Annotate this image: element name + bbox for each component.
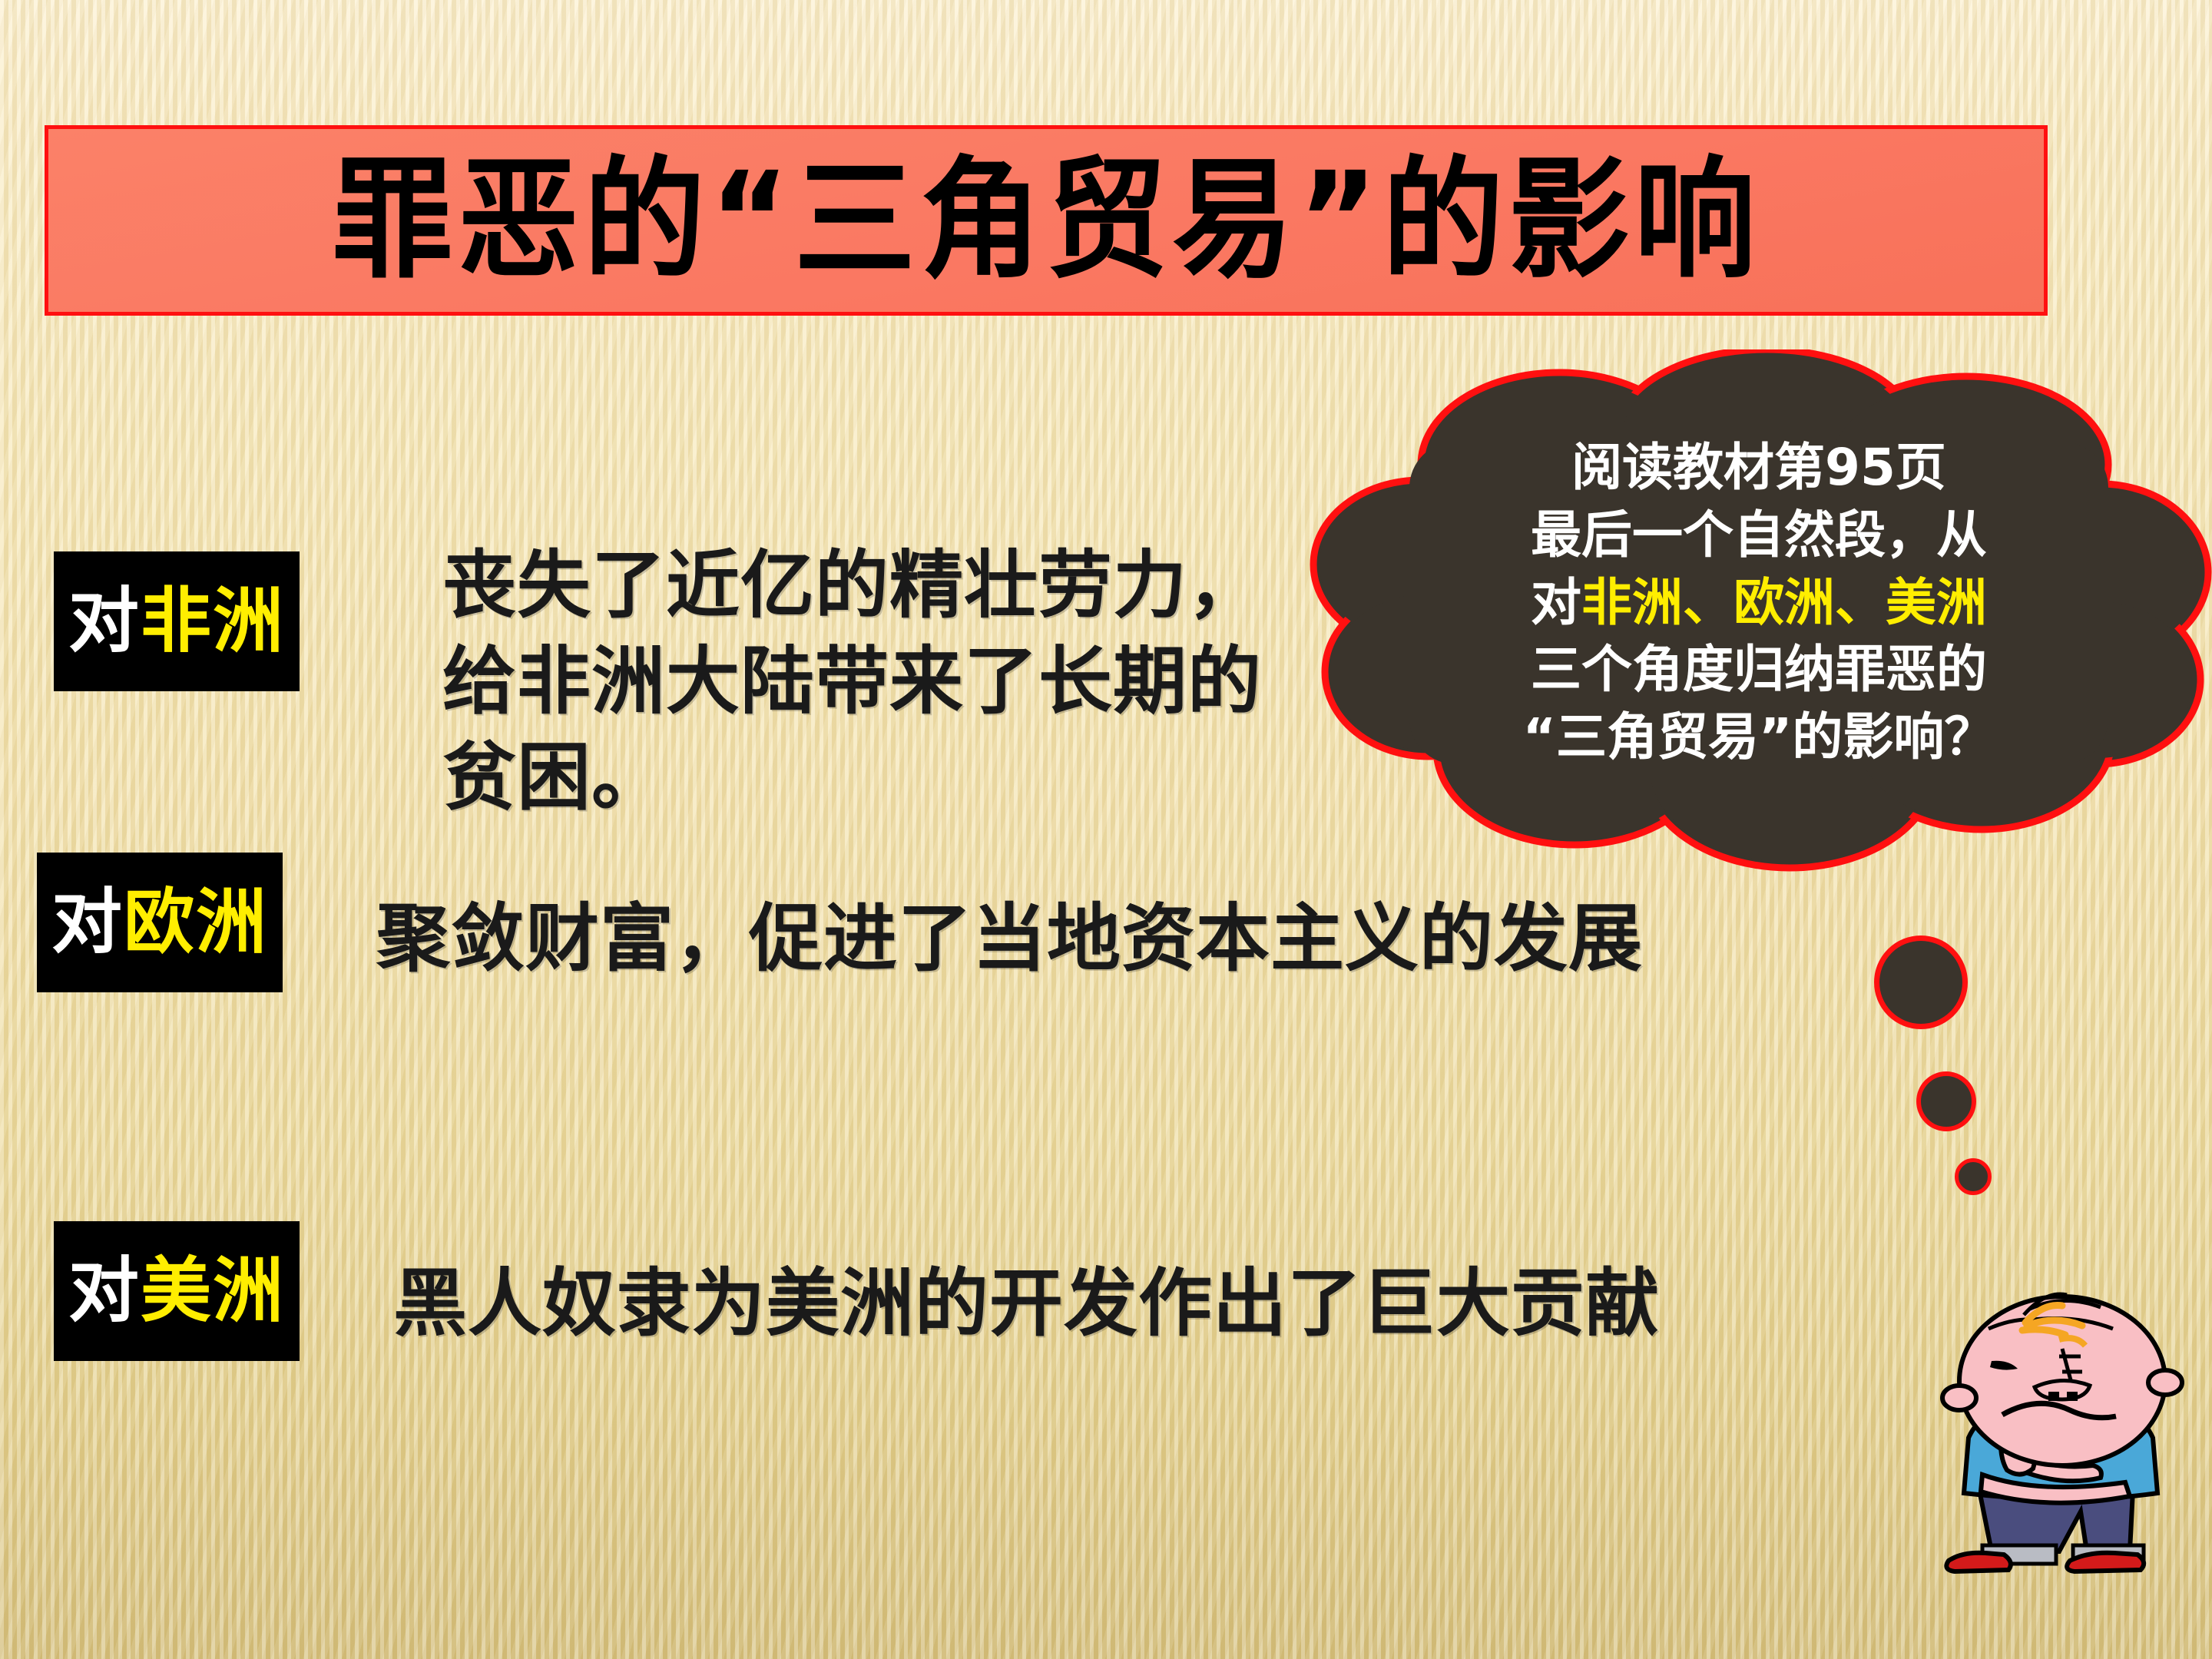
bubble-line-3-highlight: 非洲、欧洲、美洲 — [1581, 573, 1987, 632]
thought-dot-large — [1874, 935, 1968, 1029]
chip-america-text: 对美洲 — [68, 1256, 285, 1326]
thought-bubble-text: 阅读教材第95页 最后一个自然段，从 对非洲、欧洲、美洲 三个角度归纳罪恶的 “… — [1306, 434, 2212, 771]
thinking-boy-illustration — [1909, 1244, 2212, 1613]
bubble-line-5: “三角贸易”的影响？ — [1306, 704, 2212, 771]
bubble-line-3: 对非洲、欧洲、美洲 — [1306, 569, 2212, 637]
bubble-line-2: 最后一个自然段，从 — [1306, 502, 2212, 569]
chip-europe-prefix: 对 — [51, 881, 124, 963]
chip-africa-prefix: 对 — [68, 580, 141, 662]
bubble-line-4: 三个角度归纳罪恶的 — [1306, 636, 2212, 704]
body-text-africa: 丧失了近亿的精壮劳力， 给非洲大陆带来了长期的 贫困。 — [442, 538, 1364, 825]
page-title: 罪恶的“三角贸易”的影响 — [332, 155, 1760, 286]
bubble-line-3-prefix: 对 — [1531, 573, 1581, 632]
thinking-boy-icon — [1909, 1244, 2212, 1613]
chip-africa-region: 非洲 — [141, 580, 285, 662]
chip-america-region: 美洲 — [141, 1250, 285, 1332]
title-banner: 罪恶的“三角贸易”的影响 — [45, 125, 2048, 316]
chip-europe-region: 欧洲 — [124, 881, 268, 963]
chip-america-prefix: 对 — [68, 1250, 141, 1332]
chip-africa-text: 对非洲 — [68, 586, 285, 657]
chip-europe-text: 对欧洲 — [51, 887, 268, 958]
body-text-america: 黑人奴隶为美洲的开发作出了巨大贡献 — [393, 1256, 1776, 1352]
label-chip-america: 对美洲 — [54, 1221, 300, 1361]
body-text-europe: 聚敛财富，促进了当地资本主义的发展 — [376, 891, 1759, 987]
bubble-line-1: 阅读教材第95页 — [1306, 434, 2212, 502]
label-chip-africa: 对非洲 — [54, 551, 300, 691]
thought-dot-medium — [1916, 1071, 1976, 1131]
thought-bubble: 阅读教材第95页 最后一个自然段，从 对非洲、欧洲、美洲 三个角度归纳罪恶的 “… — [1306, 349, 2212, 887]
thought-dot-small — [1955, 1158, 1992, 1195]
label-chip-europe: 对欧洲 — [37, 853, 283, 992]
